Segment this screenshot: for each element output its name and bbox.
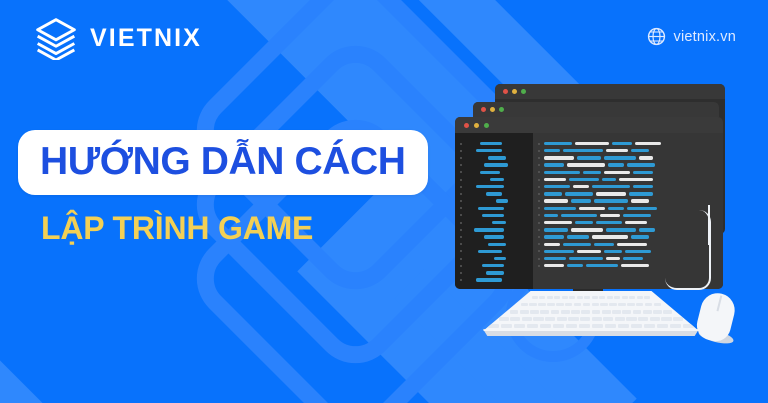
code-token: [577, 156, 601, 159]
keyboard-key: [553, 324, 565, 328]
line-number-dot-icon: [538, 143, 540, 145]
close-dot-icon: [481, 107, 486, 112]
editor-sidebar-code: [455, 133, 533, 289]
keyboard-key: [562, 296, 568, 299]
keyboard-key: [584, 296, 590, 299]
close-dot-icon: [464, 123, 469, 128]
keyboard-key: [574, 303, 581, 306]
code-token: [490, 178, 504, 181]
code-token: [544, 264, 564, 267]
keyboard-key: [580, 317, 590, 321]
code-line: [533, 198, 723, 205]
code-line: [455, 219, 533, 226]
minimize-dot-icon: [474, 123, 479, 128]
code-token: [486, 271, 504, 274]
code-token: [631, 235, 649, 238]
code-token: [544, 207, 576, 210]
code-token: [544, 171, 580, 174]
line-number-dot-icon: [460, 222, 462, 224]
line-number-dot-icon: [538, 250, 540, 252]
keyboard-key: [488, 324, 500, 328]
code-token: [476, 185, 504, 188]
keyboard-key: [554, 296, 560, 299]
keyboard-key: [547, 296, 553, 299]
code-token: [494, 257, 506, 260]
computer-illustration: [455, 55, 768, 355]
keyboard-key: [627, 303, 634, 306]
code-token: [631, 199, 649, 202]
keyboard[interactable]: [483, 291, 699, 343]
keyboard-key: [532, 296, 538, 299]
code-token: [623, 214, 651, 217]
code-token: [476, 149, 502, 152]
code-token: [627, 163, 655, 166]
code-token: [627, 207, 657, 210]
keyboard-key: [631, 324, 643, 328]
code-token: [567, 235, 589, 238]
keyboard-key: [663, 310, 672, 314]
keyboard-key: [522, 317, 532, 321]
keyboard-key: [561, 310, 570, 314]
code-token: [579, 207, 605, 210]
keyboard-key: [529, 303, 536, 306]
keyboard-key: [599, 296, 605, 299]
code-line: [455, 269, 533, 276]
keyboard-key: [592, 317, 602, 321]
code-token: [544, 156, 574, 159]
code-token: [563, 149, 603, 152]
code-token: [604, 171, 630, 174]
code-token: [596, 221, 622, 224]
keyboard-key: [683, 324, 695, 328]
keyboard-key: [565, 303, 572, 306]
code-line: [455, 248, 533, 255]
code-line: [533, 154, 723, 161]
code-line: [533, 176, 723, 183]
globe-icon: [647, 27, 666, 46]
code-line: [455, 140, 533, 147]
code-line: [455, 190, 533, 197]
keyboard-key: [520, 310, 529, 314]
code-token: [544, 185, 570, 188]
stacked-layers-logo-icon: [34, 16, 78, 60]
line-number-dot-icon: [538, 186, 540, 188]
keyboard-key: [626, 317, 636, 321]
keyboard-key: [583, 303, 590, 306]
keyboard-key: [633, 310, 642, 314]
keyboard-key: [566, 324, 578, 328]
line-number-dot-icon: [460, 207, 462, 209]
keyboard-key: [602, 310, 611, 314]
line-number-dot-icon: [460, 164, 462, 166]
code-line: [533, 140, 723, 147]
maximize-dot-icon: [521, 89, 526, 94]
keyboard-key: [545, 317, 555, 321]
keyboard-key: [605, 324, 617, 328]
brand-wordmark: VIETNIX: [90, 24, 202, 53]
line-number-dot-icon: [538, 236, 540, 238]
keyboard-key: [579, 324, 591, 328]
keyboard-key: [510, 317, 520, 321]
code-token: [629, 192, 653, 195]
keyboard-key: [521, 303, 528, 306]
line-number-dot-icon: [538, 157, 540, 159]
keyboard-key: [645, 303, 652, 306]
keyboard-key: [592, 310, 601, 314]
code-token: [492, 221, 506, 224]
mouse-cable-vertical: [708, 205, 710, 245]
keyboard-key: [629, 296, 635, 299]
code-token: [544, 257, 566, 260]
keyboard-key: [622, 296, 628, 299]
line-number-dot-icon: [538, 265, 540, 267]
line-number-dot-icon: [460, 186, 462, 188]
code-line: [455, 255, 533, 262]
code-token: [484, 235, 504, 238]
code-line: [455, 183, 533, 190]
code-token: [631, 149, 649, 152]
keyboard-key: [644, 324, 656, 328]
line-number-dot-icon: [460, 236, 462, 238]
line-number-dot-icon: [538, 207, 540, 209]
code-token: [544, 163, 564, 166]
keyboard-key: [618, 303, 625, 306]
line-number-dot-icon: [460, 258, 462, 260]
headline-primary: HƯỚNG DẪN CÁCH: [40, 142, 406, 181]
code-token: [561, 214, 597, 217]
keyboard-key: [501, 324, 513, 328]
line-number-dot-icon: [538, 193, 540, 195]
code-token: [544, 221, 572, 224]
code-line: [455, 169, 533, 176]
keyboard-surface: [483, 291, 699, 331]
line-number-dot-icon: [538, 258, 540, 260]
mouse-cable: [665, 210, 711, 290]
keyboard-key: [637, 296, 643, 299]
keyboard-key: [670, 324, 682, 328]
code-token: [575, 221, 593, 224]
code-token: [639, 228, 655, 231]
line-number-dot-icon: [460, 214, 462, 216]
vietnix-article-banner: VIETNIX vietnix.vn HƯỚNG DẪN CÁCH LẬP TR…: [0, 0, 768, 403]
line-number-dot-icon: [538, 164, 540, 166]
keyboard-key: [547, 303, 554, 306]
keyboard-key: [657, 324, 669, 328]
code-token: [482, 214, 504, 217]
keyboard-key: [514, 324, 526, 328]
code-token: [602, 178, 616, 181]
code-line: [455, 162, 533, 169]
keyboard-key: [638, 317, 648, 321]
code-token: [567, 264, 583, 267]
code-token: [592, 185, 630, 188]
code-token: [544, 235, 564, 238]
code-line: [533, 162, 723, 169]
code-token: [612, 142, 632, 145]
code-token: [544, 250, 574, 253]
minimize-dot-icon: [512, 89, 517, 94]
code-token: [608, 163, 624, 166]
code-token: [544, 192, 562, 195]
keyboard-key: [615, 317, 625, 321]
website-link[interactable]: vietnix.vn: [647, 27, 736, 46]
window-titlebar: [473, 102, 719, 117]
keyboard-key: [614, 296, 620, 299]
code-token: [544, 214, 558, 217]
line-number-dot-icon: [460, 171, 462, 173]
keyboard-key: [568, 317, 578, 321]
code-token: [480, 142, 502, 145]
close-dot-icon: [503, 89, 508, 94]
code-token: [571, 228, 603, 231]
code-token: [486, 192, 502, 195]
code-token: [600, 214, 620, 217]
keyboard-key: [530, 310, 539, 314]
code-line: [455, 226, 533, 233]
code-line: [455, 198, 533, 205]
line-number-dot-icon: [460, 279, 462, 281]
keyboard-key: [539, 296, 545, 299]
keyboard-key: [609, 303, 616, 306]
keyboard-key: [622, 310, 631, 314]
code-token: [488, 243, 506, 246]
code-token: [565, 192, 593, 195]
keyboard-key: [592, 303, 599, 306]
keyboard-key: [581, 310, 590, 314]
code-line: [533, 169, 723, 176]
keyboard-key: [527, 324, 539, 328]
code-token: [544, 243, 560, 246]
code-token: [482, 264, 504, 267]
keyboard-key: [540, 310, 549, 314]
code-token: [544, 142, 572, 145]
code-token: [478, 250, 502, 253]
code-token: [583, 171, 601, 174]
code-token: [633, 185, 653, 188]
keyboard-key: [600, 303, 607, 306]
diagonal-ribbon-5: [0, 292, 108, 403]
keyboard-key: [673, 317, 683, 321]
code-token: [606, 149, 628, 152]
line-number-dot-icon: [460, 200, 462, 202]
line-number-dot-icon: [538, 179, 540, 181]
keyboard-key: [643, 310, 652, 314]
code-line: [455, 212, 533, 219]
keyboard-key: [556, 303, 563, 306]
keyboard-key: [661, 317, 671, 321]
headline-plate: HƯỚNG DẪN CÁCH: [18, 130, 428, 195]
maximize-dot-icon: [499, 107, 504, 112]
code-token: [474, 228, 504, 231]
line-number-dot-icon: [460, 265, 462, 267]
keyboard-key: [571, 310, 580, 314]
code-token: [633, 171, 653, 174]
code-token: [604, 156, 636, 159]
code-token: [606, 228, 636, 231]
code-token: [567, 163, 605, 166]
keyboard-key: [577, 296, 583, 299]
code-line: [455, 147, 533, 154]
code-token: [544, 199, 568, 202]
keyboard-key: [569, 296, 575, 299]
code-token: [496, 199, 508, 202]
code-line: [533, 190, 723, 197]
line-number-dot-icon: [460, 157, 462, 159]
code-token: [575, 142, 609, 145]
code-token: [571, 199, 591, 202]
keyboard-keys: [483, 291, 699, 331]
code-token: [592, 235, 628, 238]
line-number-dot-icon: [538, 222, 540, 224]
code-token: [608, 207, 624, 210]
keyboard-key: [618, 324, 630, 328]
window-titlebar: [495, 84, 725, 99]
keyboard-key: [654, 303, 661, 306]
keyboard-key: [499, 317, 509, 321]
code-line: [455, 154, 533, 161]
line-number-dot-icon: [460, 272, 462, 274]
code-token: [563, 243, 591, 246]
code-token: [478, 207, 504, 210]
code-line: [455, 205, 533, 212]
line-number-dot-icon: [460, 229, 462, 231]
code-token: [544, 178, 566, 181]
keyboard-key: [607, 296, 613, 299]
line-number-dot-icon: [460, 143, 462, 145]
code-token: [569, 178, 599, 181]
keyboard-key: [603, 317, 613, 321]
code-token: [480, 171, 500, 174]
mouse-button-divider: [716, 295, 721, 311]
keyboard-key: [650, 317, 660, 321]
website-url-text: vietnix.vn: [674, 29, 736, 45]
minimize-dot-icon: [490, 107, 495, 112]
code-token: [596, 192, 626, 195]
code-token: [625, 221, 647, 224]
code-token: [544, 149, 560, 152]
line-number-dot-icon: [460, 243, 462, 245]
line-number-dot-icon: [538, 200, 540, 202]
keyboard-key: [592, 324, 604, 328]
keyboard-key: [592, 296, 598, 299]
line-number-dot-icon: [460, 179, 462, 181]
code-line: [533, 147, 723, 154]
keyboard-key: [533, 317, 543, 321]
code-token: [594, 199, 628, 202]
code-token: [488, 156, 506, 159]
code-token: [476, 278, 502, 281]
code-token: [544, 228, 568, 231]
code-token: [639, 156, 653, 159]
code-token: [484, 163, 508, 166]
line-number-dot-icon: [538, 229, 540, 231]
keyboard-key: [612, 310, 621, 314]
line-number-dot-icon: [538, 171, 540, 173]
keyboard-key: [557, 317, 567, 321]
code-line: [455, 176, 533, 183]
line-number-dot-icon: [538, 150, 540, 152]
maximize-dot-icon: [484, 123, 489, 128]
code-line: [455, 277, 533, 284]
code-line: [455, 262, 533, 269]
window-titlebar: [455, 117, 723, 133]
line-number-dot-icon: [538, 243, 540, 245]
keyboard-key: [538, 303, 545, 306]
keyboard-key: [510, 310, 519, 314]
code-token: [573, 185, 589, 188]
code-line: [533, 183, 723, 190]
code-line: [455, 233, 533, 240]
keyboard-key: [551, 310, 560, 314]
code-line: [455, 241, 533, 248]
keyboard-key: [653, 310, 662, 314]
brand-logo[interactable]: VIETNIX: [34, 16, 202, 60]
line-number-dot-icon: [538, 214, 540, 216]
keyboard-key: [540, 324, 552, 328]
code-token: [635, 142, 661, 145]
keyboard-key: [636, 303, 643, 306]
line-number-dot-icon: [460, 193, 462, 195]
watermark-stacked-layers-icon: [188, 28, 488, 388]
keyboard-key: [644, 296, 650, 299]
line-number-dot-icon: [460, 250, 462, 252]
line-number-dot-icon: [460, 150, 462, 152]
code-token: [619, 178, 653, 181]
headline-secondary: LẬP TRÌNH GAME: [41, 212, 313, 244]
